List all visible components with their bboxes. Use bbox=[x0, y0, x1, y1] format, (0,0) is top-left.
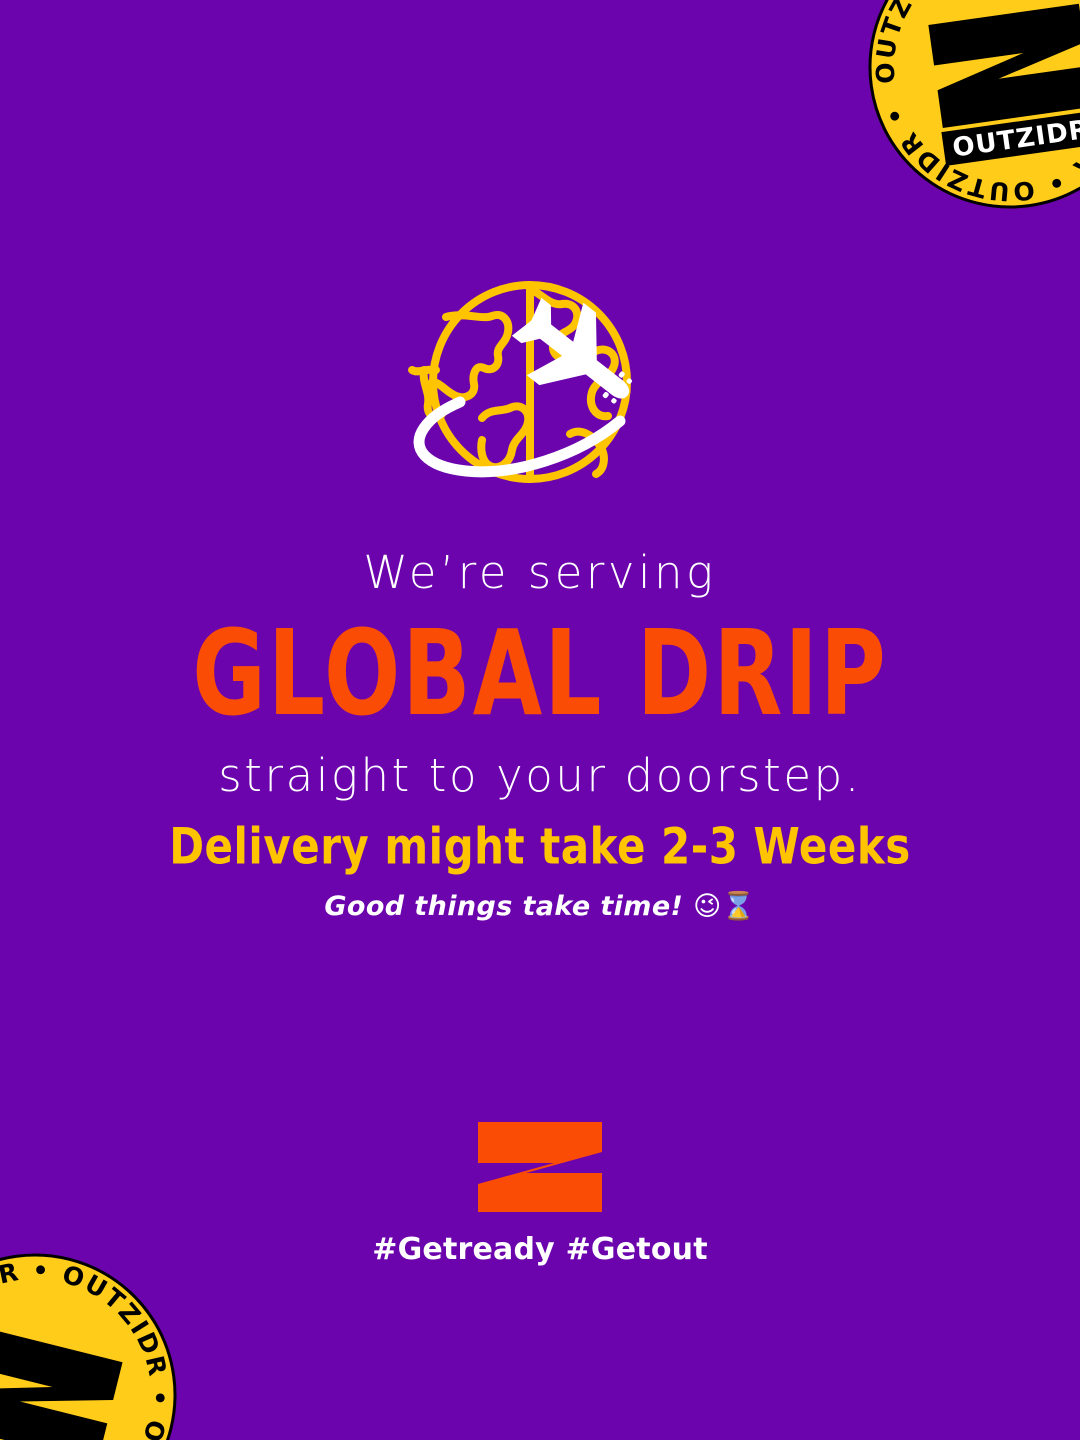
delivery-estimate-text: Delivery might take 2-3 Weeks bbox=[0, 820, 1080, 875]
poster-canvas: OUTZIDR • OUTZIDR • OUTZIDR • OUTZIDR • … bbox=[0, 0, 1080, 1440]
z-logo bbox=[478, 1122, 602, 1212]
delivery-reassurance-label: Good things take time! bbox=[324, 891, 683, 922]
headline-main: GLOBAL DRIP bbox=[0, 612, 1080, 736]
footer-block: #Getready #Getout bbox=[0, 1122, 1080, 1267]
headline-block: We’re serving GLOBAL DRIP straight to yo… bbox=[0, 548, 1080, 801]
headline-sub: straight to your doorstep. bbox=[0, 751, 1080, 801]
brand-stamp-badge-top-right: OUTZIDR • OUTZIDR • OUTZIDR • OUTZIDR • … bbox=[846, 0, 1080, 231]
hourglass-icon: ⌛ bbox=[722, 891, 756, 922]
headline-kicker: We’re serving bbox=[0, 548, 1080, 598]
winking-face-icon: 😉 bbox=[693, 891, 722, 922]
globe-airplane-icon bbox=[364, 278, 716, 510]
delivery-reassurance-text: Good things take time! 😉⌛ bbox=[0, 890, 1080, 922]
hashtags-text: #Getready #Getout bbox=[0, 1232, 1080, 1267]
delivery-note-block: Delivery might take 2-3 Weeks Good thing… bbox=[0, 820, 1080, 922]
